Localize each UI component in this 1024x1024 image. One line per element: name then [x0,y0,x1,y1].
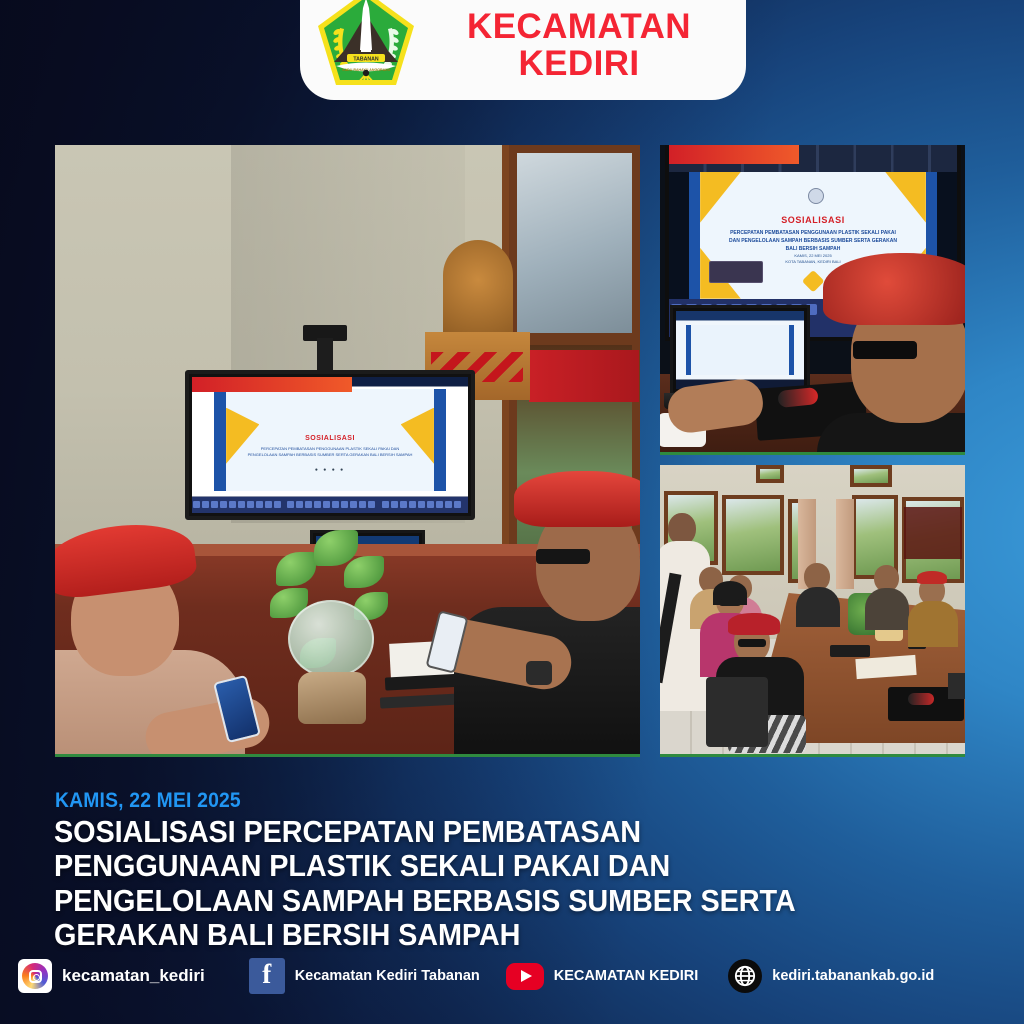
social-website[interactable]: kediri.tabanankab.go.id [728,959,934,993]
header-banner: TABANAN SADU RAHAYU ANGGRAINI KECAMATAN … [300,0,746,100]
br-papers [855,655,916,679]
audience-room-photo [660,465,965,757]
wristwatch [526,661,552,685]
br-mouse [908,693,934,705]
red-udeng-headband-left [55,517,198,601]
social-facebook[interactable]: f Kecamatan Kediri Tabanan [249,958,480,994]
svg-text:TABANAN: TABANAN [353,56,379,62]
participant-right [434,455,640,757]
br-person-back-right [865,565,909,627]
instagram-icon[interactable] [18,959,52,993]
br-clerestory-1 [756,465,784,483]
tr-slide-title: SOSIALISASI [700,215,926,225]
glass-vase-plant [270,530,390,720]
red-udeng-headband-right [514,471,640,527]
br-clerestory-2 [850,465,892,487]
presentation-tv: SOSIALISASI PERCEPATAN PEMBATASAN PENGGU… [185,370,475,520]
br-person-elder-right [908,571,958,641]
header-title: KECAMATAN KEDIRI [428,9,730,88]
br-outdoor-sign [904,507,962,559]
main-meeting-room-photo: SOSIALISASI PERCEPATAN PEMBATASAN PENGGU… [55,145,640,757]
social-youtube[interactable]: KECAMATAN KEDIRI [506,963,698,990]
event-date: KAMIS, 22 MEI 2025 [55,789,241,813]
social-instagram[interactable]: kecamatan_kediri [18,959,205,993]
br-chair-back [706,677,768,747]
tv-slide-dots: ● ● ● ● [226,467,434,473]
tr-red-udeng-headband [823,253,965,325]
window-glass-upper [517,153,632,333]
outdoor-red-banner [529,350,639,402]
participant-laptop-photo: SOSIALISASI PERCEPATAN PEMBATASAN PENGGU… [660,145,965,455]
social-footer: kecamatan_kediri f Kecamatan Kediri Taba… [0,948,1024,1004]
tv-slide-title: SOSIALISASI [226,435,434,442]
br-window-2 [722,495,784,575]
youtube-icon[interactable] [506,963,544,990]
facebook-handle: Kecamatan Kediri Tabanan [295,968,480,984]
youtube-handle: KECAMATAN KEDIRI [554,968,698,984]
br-laptop-closed [830,645,870,657]
br-laptop-right [948,673,965,699]
instagram-handle: kecamatan_kediri [62,966,205,986]
tr-eyeglasses [853,341,917,359]
website-url: kediri.tabanankab.go.id [772,968,934,984]
poster-canvas: TABANAN SADU RAHAYU ANGGRAINI KECAMATAN … [0,0,1024,1024]
sunglasses-right [536,549,590,564]
event-title: SOSIALISASI PERCEPATAN PEMBATASAN PENGGU… [54,815,863,953]
tr-slide-subtitle: PERCEPATAN PEMBATASAN PENGGUNAAN PLASTIK… [727,229,899,253]
tr-participant [812,255,965,455]
tr-slide-logo-icon [808,188,824,204]
facebook-icon[interactable]: f [249,958,285,994]
website-icon[interactable] [728,959,762,993]
tv-slide-subtitle: PERCEPATAN PEMBATASAN PENGGUNAAN PLASTIK… [247,446,413,458]
participant-left [55,500,275,757]
tabanan-regency-crest-icon: TABANAN SADU RAHAYU ANGGRAINI [314,0,418,92]
